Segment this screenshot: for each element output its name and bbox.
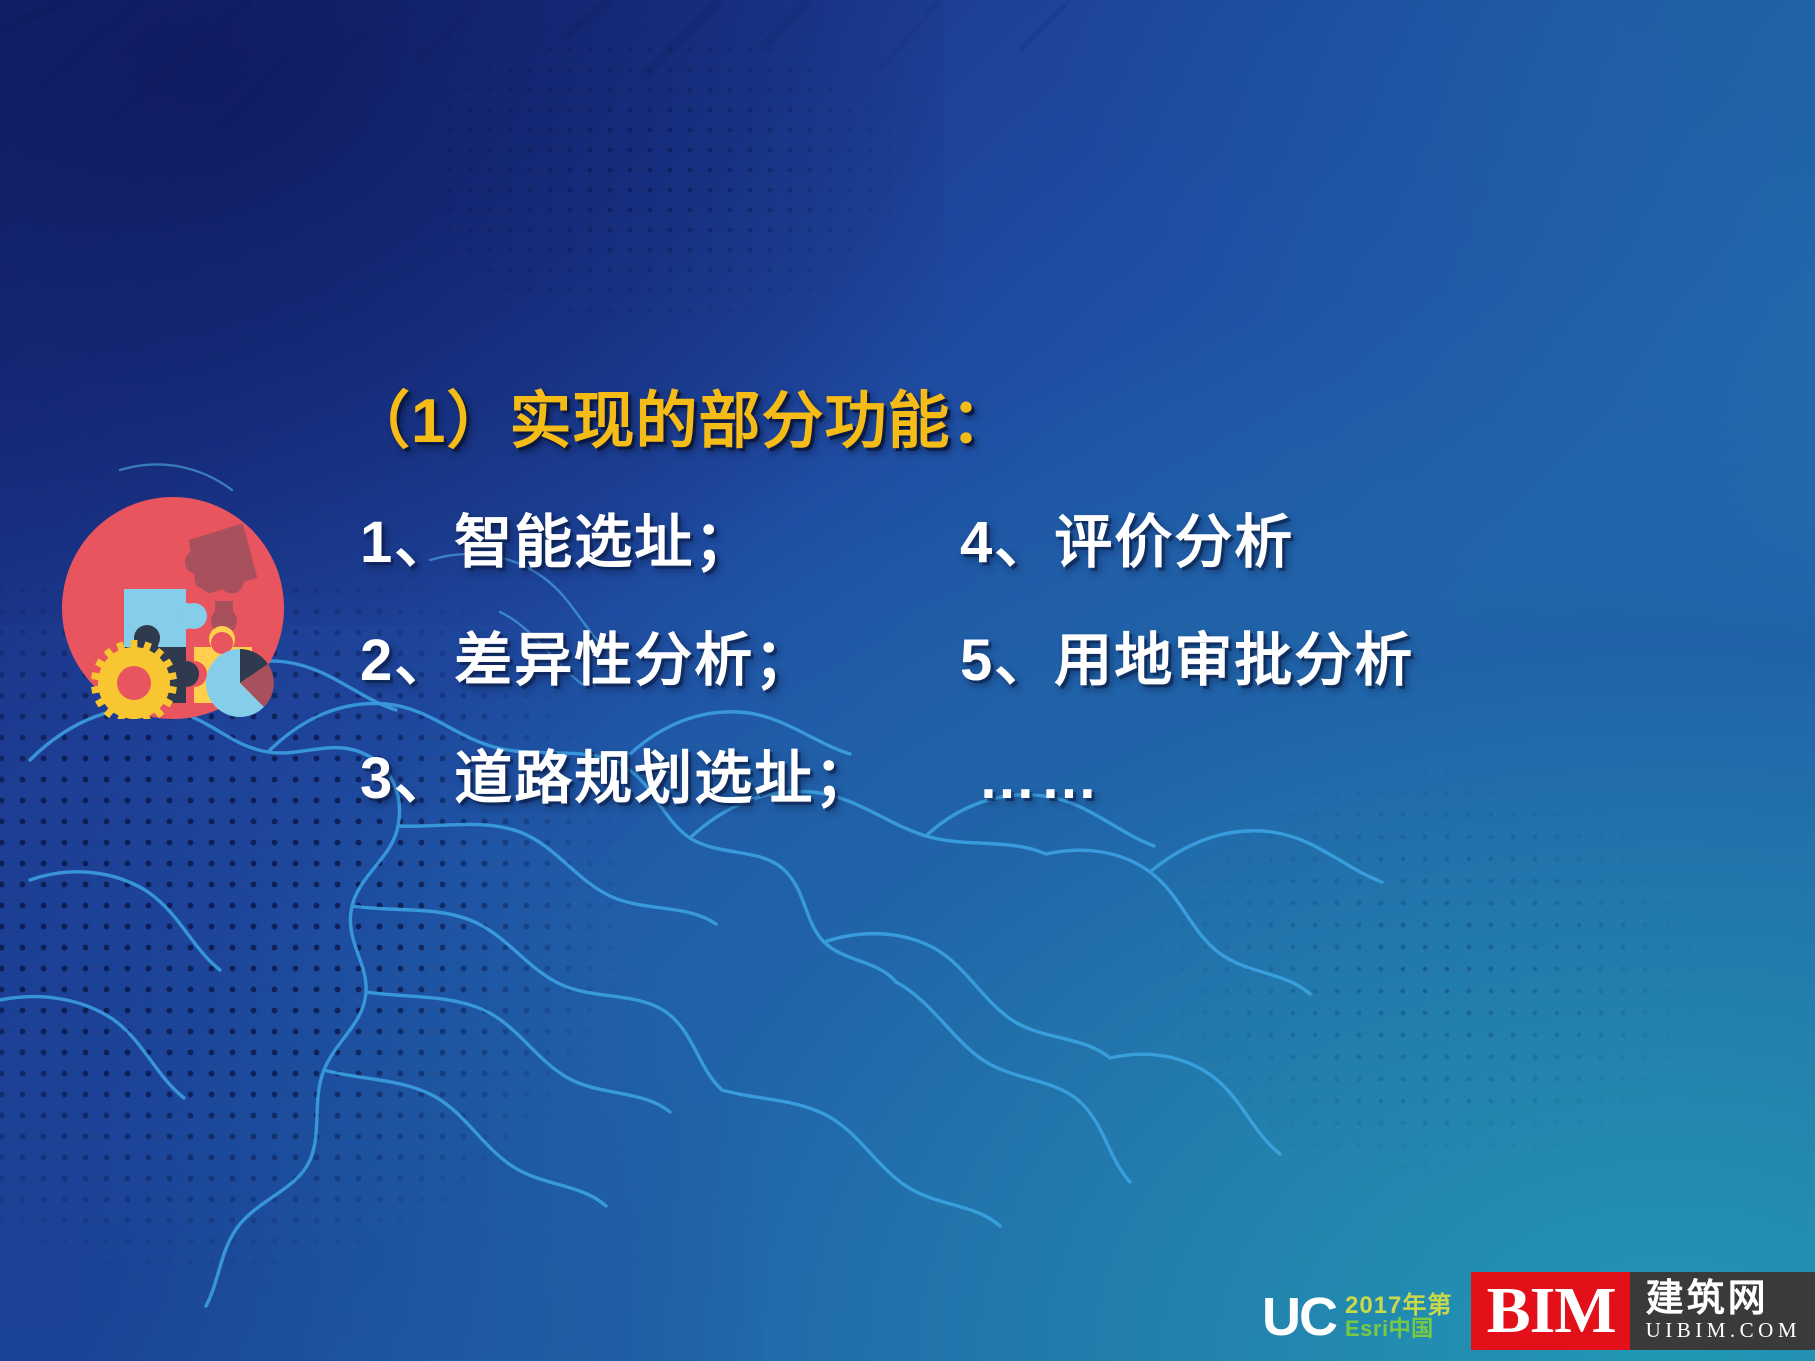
feature-item-ellipsis: …… — [960, 746, 1102, 811]
pie-chart-icon — [206, 649, 274, 717]
feature-col-left: 3、道路规划选址； — [360, 731, 960, 815]
feature-row: 3、道路规划选址； …… — [360, 731, 1520, 849]
uc-conference-logo: UC 2017年第 Esri中国 — [1262, 1286, 1452, 1348]
slide-title: （1）实现的部分功能： — [348, 370, 1013, 460]
uc-logo-text: 2017年第 Esri中国 — [1345, 1294, 1452, 1341]
presentation-slide: （1）实现的部分功能： 1、智能选址； 4、评价分析 2、差异性分析； 5、用地… — [0, 0, 1815, 1361]
bim-brand-block: BIM — [1471, 1272, 1630, 1350]
feature-list: 1、智能选址； 4、评价分析 2、差异性分析； 5、用地审批分析 3、道路规划选… — [360, 495, 1520, 849]
uc-logo-mark: UC — [1262, 1290, 1336, 1344]
feature-col-right: 4、评价分析 — [960, 495, 1520, 579]
puzzle-gear-chart-icon — [62, 497, 284, 719]
feature-item-2: 2、差异性分析； — [360, 628, 814, 693]
bim-brand-text: BIM — [1487, 1278, 1616, 1344]
bim-site-name: 建筑网 — [1646, 1280, 1801, 1320]
feature-col-right: …… — [960, 745, 1520, 812]
feature-row: 2、差异性分析； 5、用地审批分析 — [360, 613, 1520, 731]
bim-watermark: BIM 建筑网 UIBIM.COM — [1471, 1272, 1815, 1350]
feature-col-left: 2、差异性分析； — [360, 613, 960, 697]
bim-site-block: 建筑网 UIBIM.COM — [1630, 1272, 1815, 1350]
feature-item-1: 1、智能选址； — [360, 510, 754, 575]
feature-item-5: 5、用地审批分析 — [960, 628, 1414, 693]
bim-site-url: UIBIM.COM — [1646, 1319, 1801, 1342]
feature-row: 1、智能选址； 4、评价分析 — [360, 495, 1520, 613]
uc-logo-org: Esri中国 — [1345, 1318, 1452, 1340]
feature-col-left: 1、智能选址； — [360, 495, 960, 579]
feature-item-3: 3、道路规划选址； — [360, 746, 874, 811]
feature-item-4: 4、评价分析 — [960, 510, 1294, 575]
feature-col-right: 5、用地审批分析 — [960, 613, 1520, 697]
uc-logo-year: 2017年第 — [1345, 1294, 1452, 1318]
